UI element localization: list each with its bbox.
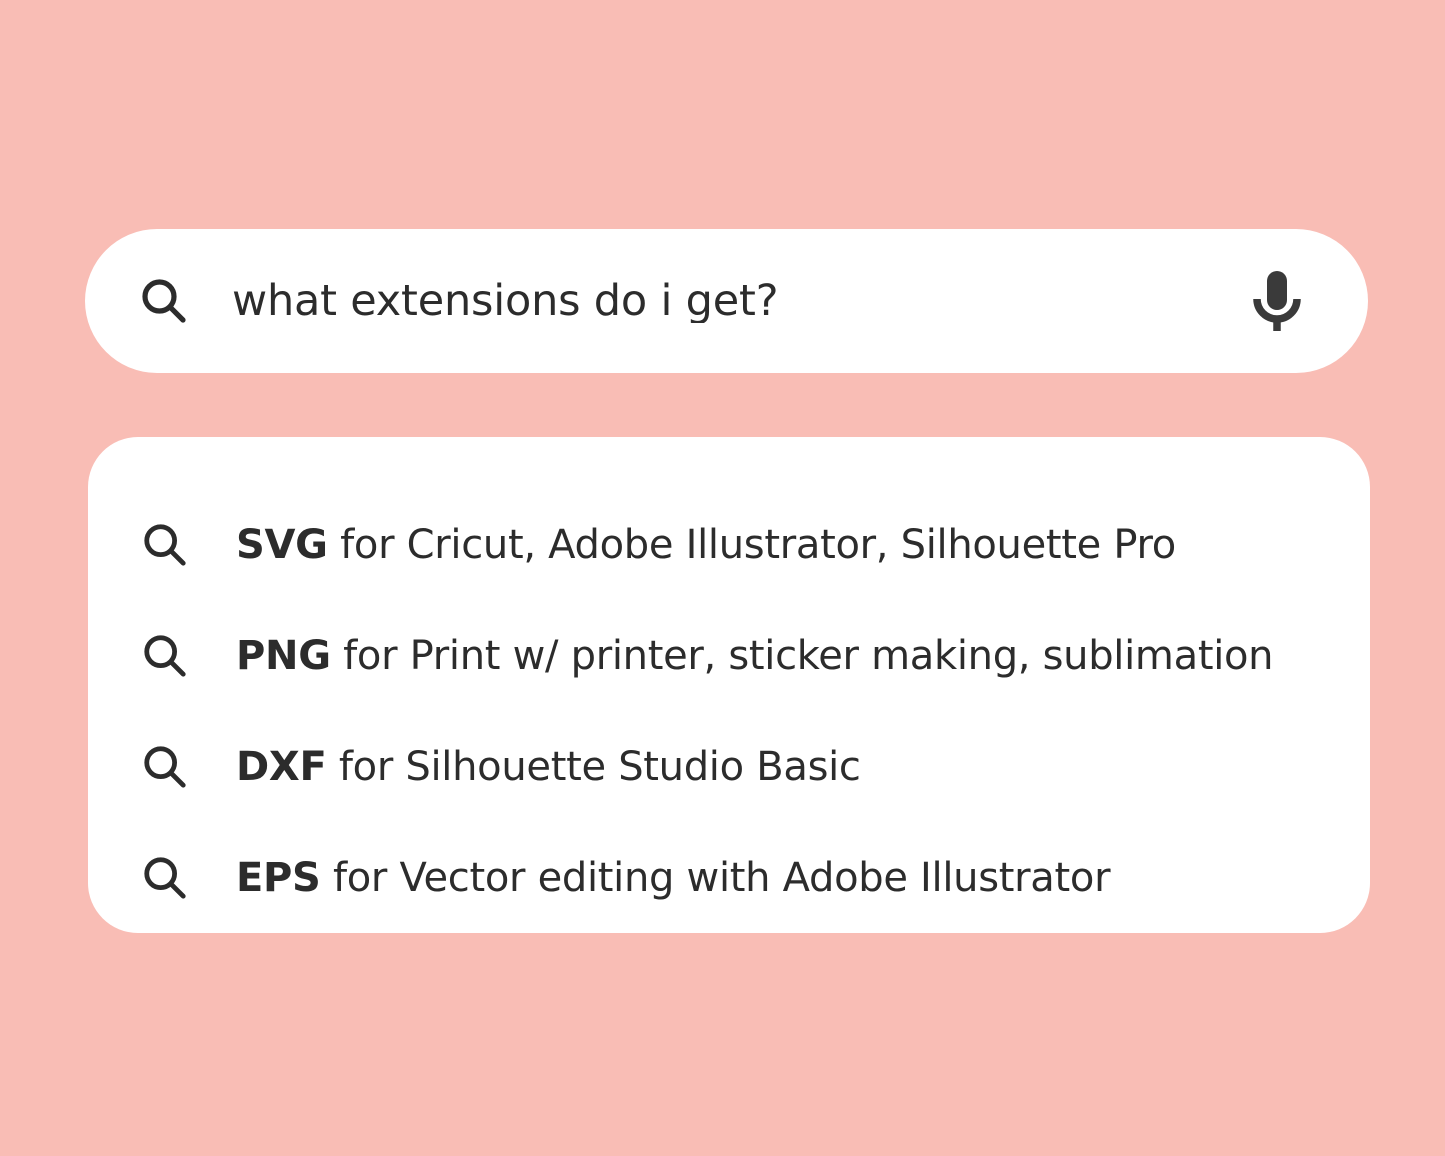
result-format: SVG <box>236 522 328 568</box>
search-icon <box>140 853 190 903</box>
result-row-eps[interactable]: EPS for Vector editing with Adobe Illust… <box>140 822 1330 933</box>
result-label: EPS for Vector editing with Adobe Illust… <box>236 856 1110 900</box>
search-icon <box>140 742 190 792</box>
result-description: for Print w/ printer, sticker making, su… <box>331 633 1274 679</box>
result-format: PNG <box>236 633 331 679</box>
result-description: for Cricut, Adobe Illustrator, Silhouett… <box>328 522 1176 568</box>
microphone-icon[interactable] <box>1248 265 1306 337</box>
search-bar[interactable]: what extensions do i get? <box>85 229 1368 373</box>
result-row-png[interactable]: PNG for Print w/ printer, sticker making… <box>140 600 1330 711</box>
page-root: what extensions do i get? SVG for Cricut… <box>0 0 1445 1156</box>
result-label: PNG for Print w/ printer, sticker making… <box>236 634 1273 678</box>
search-input[interactable]: what extensions do i get? <box>232 280 1248 323</box>
result-format: EPS <box>236 855 321 901</box>
search-icon <box>138 275 190 327</box>
result-row-dxf[interactable]: DXF for Silhouette Studio Basic <box>140 711 1330 822</box>
result-label: DXF for Silhouette Studio Basic <box>236 745 861 789</box>
search-icon <box>140 631 190 681</box>
result-format: DXF <box>236 744 326 790</box>
search-results-card: SVG for Cricut, Adobe Illustrator, Silho… <box>88 437 1370 933</box>
result-description: for Silhouette Studio Basic <box>326 744 860 790</box>
result-description: for Vector editing with Adobe Illustrato… <box>321 855 1111 901</box>
result-label: SVG for Cricut, Adobe Illustrator, Silho… <box>236 523 1176 567</box>
search-icon <box>140 520 190 570</box>
result-row-svg[interactable]: SVG for Cricut, Adobe Illustrator, Silho… <box>140 489 1330 600</box>
